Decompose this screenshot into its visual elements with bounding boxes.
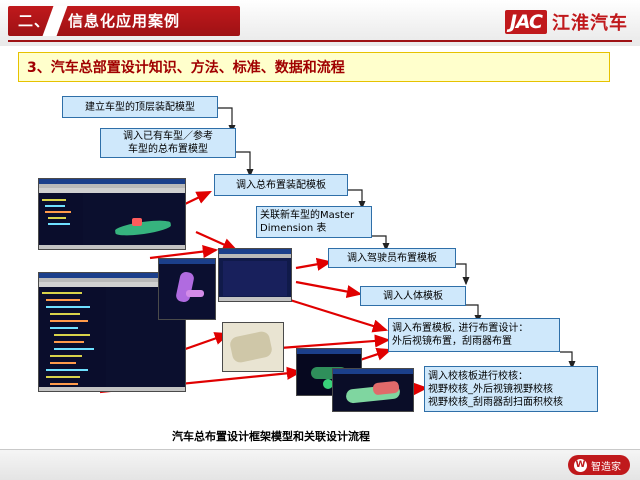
flow-box-6-label: 调入人体模板	[383, 290, 443, 303]
flow-box-5-label: 调入驾驶员布置模板	[347, 252, 437, 265]
section-number: 二、	[18, 12, 50, 30]
cad-screenshot-5	[332, 368, 414, 412]
header-title-bar: 二、信息化应用案例	[8, 6, 240, 36]
slide-header: 二、信息化应用案例 JAC 江淮汽车	[0, 0, 640, 46]
subtitle-text: 3、汽车总部置设计知识、方法、标准、数据和流程	[19, 57, 345, 77]
logo-chinese-text: 江淮汽车	[552, 9, 628, 35]
logo-latin-text: JAC	[505, 10, 547, 34]
flow-box-6[interactable]: 调入人体模板	[360, 286, 466, 306]
flow-box-1-label: 建立车型的顶层装配模型	[85, 101, 195, 114]
flow-box-8[interactable]: 调入校核板进行校核： 视野校核_外后视镜视野校核 视野校核_刮雨器刮扫面积校核	[424, 366, 598, 412]
slide-footer: W 智造家	[0, 449, 640, 480]
flow-box-4[interactable]: 关联新车型的Master Dimension 表	[256, 206, 372, 238]
cad-screenshot-1	[38, 178, 186, 250]
cad-screenshot-mirror	[222, 322, 284, 372]
jac-logo: JAC 江淮汽车	[505, 8, 628, 36]
cad-screenshot-manikin	[158, 258, 216, 320]
flow-box-7-label: 调入布置模板, 进行布置设计： 外后视镜布置，刮雨器布置	[392, 322, 528, 348]
flow-box-7[interactable]: 调入布置模板, 进行布置设计： 外后视镜布置，刮雨器布置	[388, 318, 560, 352]
cad-screenshot-3	[218, 248, 292, 302]
wechat-badge[interactable]: W 智造家	[568, 455, 630, 475]
slide: 二、信息化应用案例 JAC 江淮汽车 3、汽车总部置设计知识、方法、标准、数据和…	[0, 0, 640, 480]
wechat-badge-label: 智造家	[591, 458, 621, 473]
page-title: 二、信息化应用案例	[18, 10, 180, 31]
wechat-icon: W	[574, 459, 587, 472]
flow-box-3-label: 调入总布置装配模板	[236, 179, 326, 192]
section-title: 信息化应用案例	[68, 12, 180, 30]
flow-box-1[interactable]: 建立车型的顶层装配模型	[62, 96, 218, 118]
flow-box-4-label: 关联新车型的Master Dimension 表	[260, 209, 354, 235]
flow-box-2-label: 调入已有车型／参考 车型的总布置模型	[123, 130, 213, 156]
flow-box-3[interactable]: 调入总布置装配模板	[214, 174, 348, 196]
flow-box-5[interactable]: 调入驾驶员布置模板	[328, 248, 456, 268]
figure-caption: 汽车总布置设计框架模型和关联设计流程	[172, 428, 370, 444]
subtitle-band: 3、汽车总部置设计知识、方法、标准、数据和流程	[18, 52, 610, 82]
header-rule	[8, 40, 632, 42]
flow-box-2[interactable]: 调入已有车型／参考 车型的总布置模型	[100, 128, 236, 158]
flow-box-8-label: 调入校核板进行校核： 视野校核_外后视镜视野校核 视野校核_刮雨器刮扫面积校核	[428, 370, 563, 409]
